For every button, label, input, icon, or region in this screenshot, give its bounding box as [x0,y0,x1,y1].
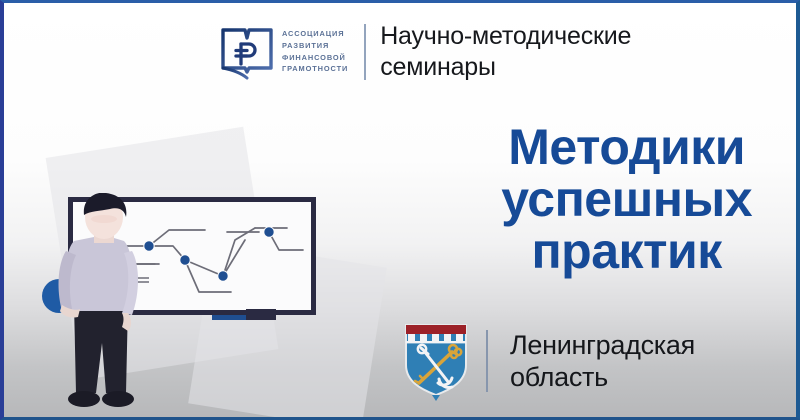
page-title-line-2: успешных [501,173,752,225]
chart-marker [218,271,228,281]
header-divider [364,24,366,80]
whiteboard-tray-accent [212,315,248,320]
seminar-series-title: Научно-методические семинары [380,21,631,82]
page-title: Методики успешных практик [501,121,752,277]
page-title-line-3: практик [501,225,752,277]
presentation-slide: АССОЦИАЦИЯ РАЗВИТИЯ ФИНАНСОВОЙ ГРАМОТНОС… [0,0,800,420]
page-title-line-1: Методики [501,121,752,173]
chart-marker [264,227,274,237]
trousers [74,303,128,393]
chart-marker [180,255,190,265]
open-book-ruble-icon [219,22,275,82]
presenter-figure [44,193,164,420]
association-branding: АССОЦИАЦИЯ РАЗВИТИЯ ФИНАНСОВОЙ ГРАМОТНОС… [219,22,348,82]
association-name: АССОЦИАЦИЯ РАЗВИТИЯ ФИНАНСОВОЙ ГРАМОТНОС… [282,28,348,76]
region-name: Ленинградская область [510,329,695,394]
shoe-right [102,391,134,407]
leningrad-oblast-coat-of-arms-icon [402,321,470,401]
shirt [64,235,134,311]
shoe-left [68,391,100,407]
region-name-line-1: Ленинградская [510,329,695,361]
seminar-title-line-1: Научно-методические [380,21,631,52]
face-shadow [91,215,117,223]
region-name-line-2: область [510,361,695,393]
region-divider [486,330,488,392]
seminar-title-line-2: семинары [380,52,631,83]
presenter-at-whiteboard-illustration [4,123,384,420]
region-block: Ленинградская область [402,321,695,401]
slide-header: АССОЦИАЦИЯ РАЗВИТИЯ ФИНАНСОВОЙ ГРАМОТНОС… [219,21,631,82]
whiteboard-marker-tray [246,309,276,320]
